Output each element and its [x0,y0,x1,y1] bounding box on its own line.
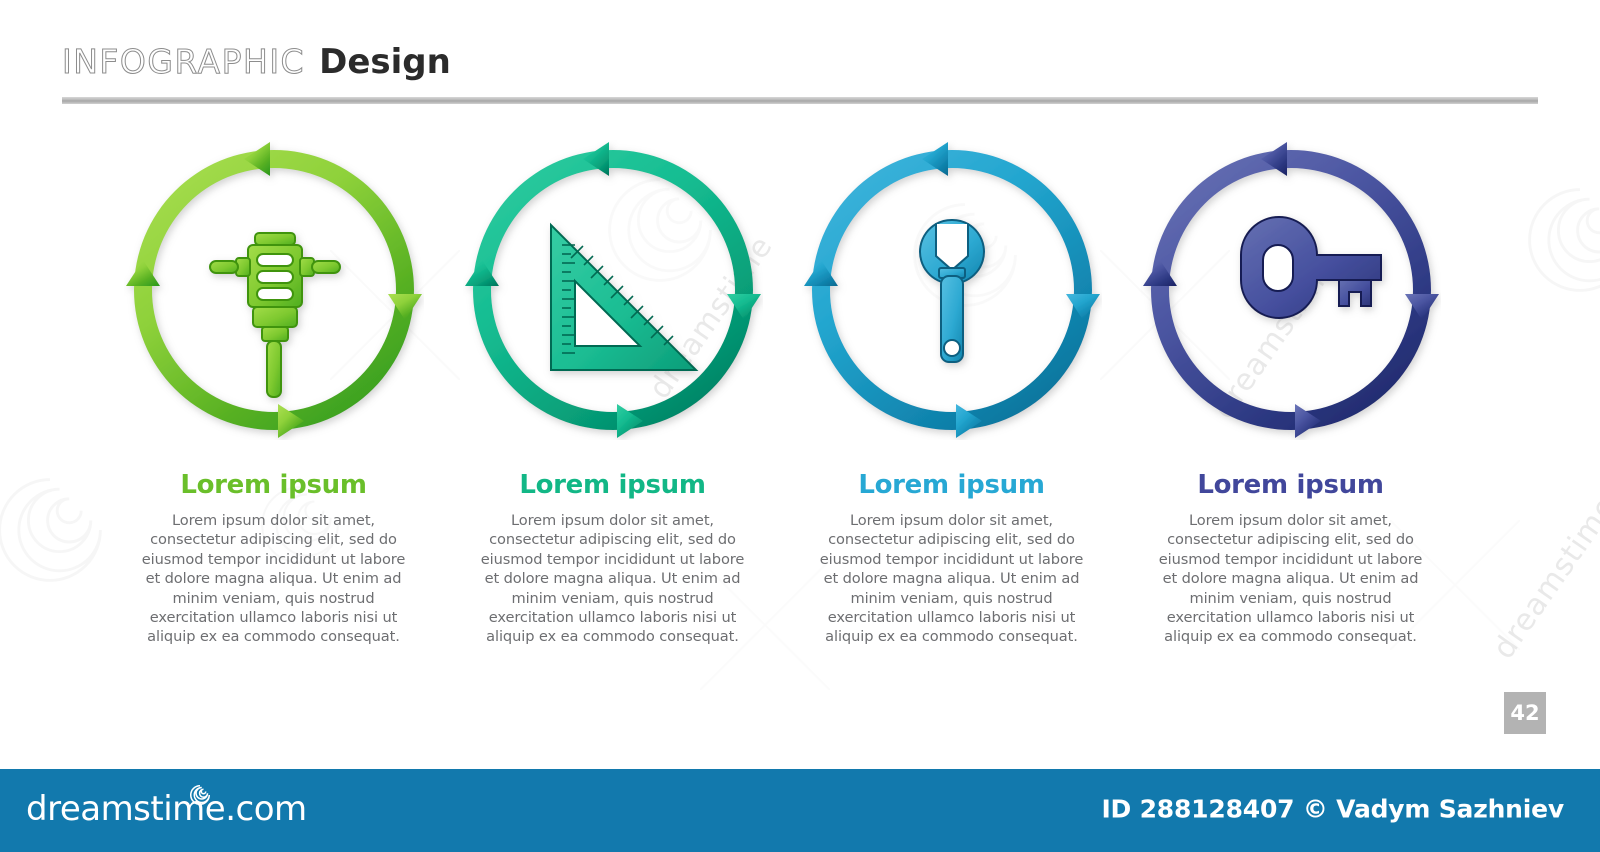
icon-ring-1[interactable] [124,140,424,440]
column-heading-1: Lorem ipsum [180,472,366,498]
title-row: INFOGRAPHIC Design [62,42,1538,88]
page-number-badge: 42 [1504,692,1546,734]
site-footer: dreamstime.com ID 288128407 © Vadym Sazh… [0,766,1600,852]
column-body-1: Lorem ipsum dolor sit amet, consectetur … [139,511,409,647]
column-body-4: Lorem ipsum dolor sit amet, consectetur … [1156,511,1426,647]
key-icon [1241,217,1381,318]
wrench-icon [920,220,984,362]
infographic-column-1[interactable]: Lorem ipsum Lorem ipsum dolor sit amet, … [104,140,443,647]
infographic-column-3[interactable]: Lorem ipsum Lorem ipsum dolor sit amet, … [782,140,1121,647]
spiral-icon [189,784,211,806]
column-body-2: Lorem ipsum dolor sit amet, consectetur … [478,511,748,647]
circular-arrow-ring [124,140,424,440]
circular-arrow-ring [802,140,1102,440]
column-heading-4: Lorem ipsum [1197,472,1383,498]
circular-arrow-ring [1141,140,1441,440]
column-body-3: Lorem ipsum dolor sit amet, consectetur … [817,511,1087,647]
dreamstime-logo-text: dreamstime.com [26,792,307,826]
page-title-thin: INFOGRAPHIC [62,42,305,81]
circular-arrow-ring [463,140,763,440]
title-divider [62,97,1538,104]
icon-ring-4[interactable] [1141,140,1441,440]
infographic-column-4[interactable]: Lorem ipsum Lorem ipsum dolor sit amet, … [1121,140,1460,647]
infographic-column-2[interactable]: Lorem ipsum Lorem ipsum dolor sit amet, … [443,140,782,647]
dreamstime-logo[interactable]: dreamstime.com [26,792,211,826]
infographic-columns: Lorem ipsum Lorem ipsum dolor sit amet, … [0,140,1600,647]
image-credit: ID 288128407 © Vadym Sazhniev [1101,795,1564,824]
footer-divider [0,766,1600,769]
page-header: INFOGRAPHIC Design [62,42,1538,104]
jackhammer-icon [210,233,340,397]
column-heading-2: Lorem ipsum [519,472,705,498]
icon-ring-3[interactable] [802,140,1102,440]
triangular-ruler-icon [551,225,696,370]
column-heading-3: Lorem ipsum [858,472,1044,498]
icon-ring-2[interactable] [463,140,763,440]
page-title-bold: Design [319,42,451,82]
